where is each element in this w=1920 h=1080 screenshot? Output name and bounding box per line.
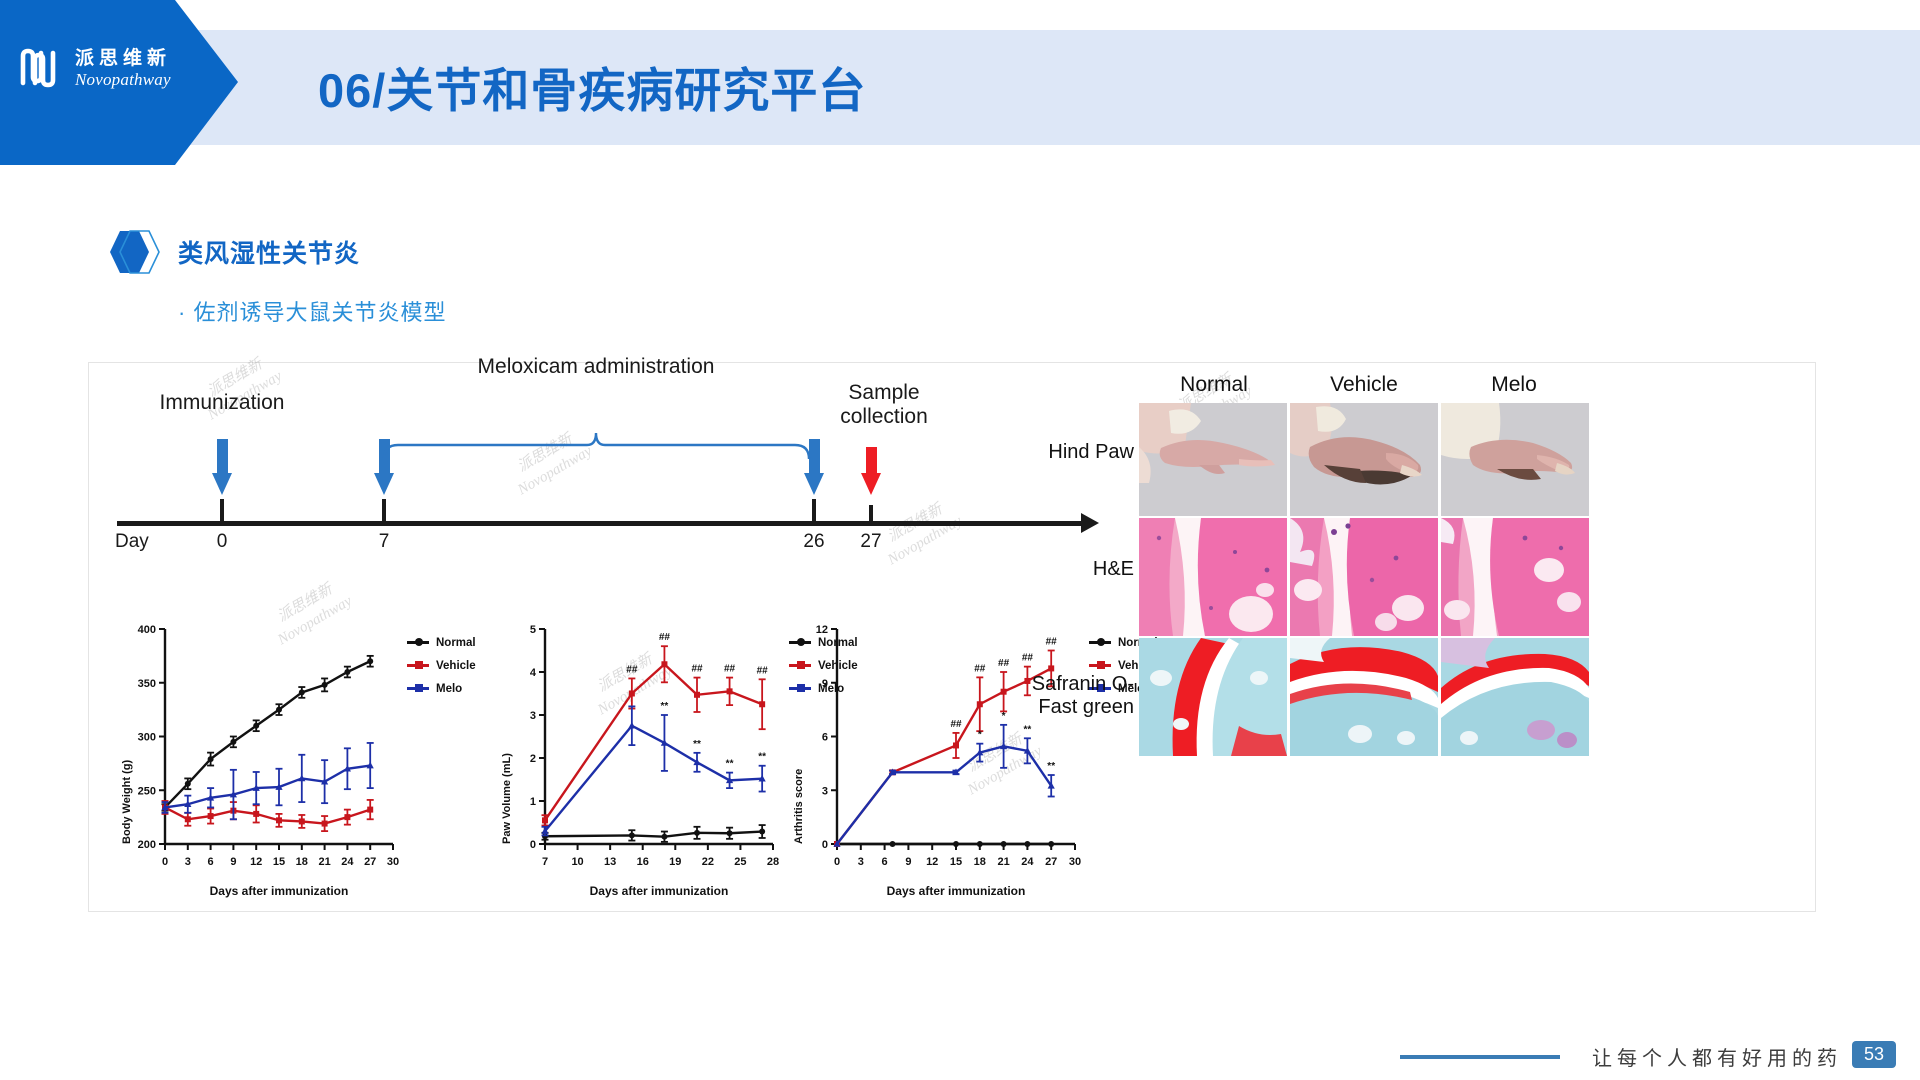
histology-image-hindpaw-normal	[1139, 403, 1287, 516]
histology-column-header-vehicle: Vehicle	[1330, 373, 1398, 397]
svg-text:10: 10	[571, 856, 583, 868]
legend-item: Melo	[407, 677, 476, 700]
timeline-tick	[220, 499, 224, 524]
legend-marker-icon	[407, 664, 429, 667]
svg-text:**: **	[661, 701, 669, 712]
legend-label: Melo	[436, 683, 462, 695]
histology-row-label-safranin: Safranin O-Fast green	[991, 673, 1134, 719]
figure-panel: 派思维新Novopathway 派思维新Novopathway 派思维新Novo…	[88, 362, 1816, 912]
histology-grid: Normal Vehicle Melo Hind Paw H&E Safrani…	[1039, 363, 1809, 911]
histology-image-safranin-vehicle	[1290, 638, 1438, 756]
histology-image-he-normal	[1139, 518, 1287, 636]
timeline-tick	[869, 505, 873, 523]
svg-text:##: ##	[724, 664, 736, 675]
svg-text:21: 21	[318, 856, 330, 868]
svg-text:27: 27	[364, 856, 376, 868]
legend-marker-icon	[407, 641, 429, 644]
timeline-tick-label: 26	[803, 531, 824, 553]
svg-text:0: 0	[822, 839, 828, 851]
legend-label: Vehicle	[436, 660, 476, 672]
histology-column-header-normal: Normal	[1180, 373, 1248, 397]
histology-image-safranin-normal	[1139, 638, 1287, 756]
histology-image-hindpaw-melo	[1441, 403, 1589, 516]
svg-text:0: 0	[162, 856, 168, 868]
timeline-tick-label: 7	[379, 531, 390, 553]
chart-x-axis-label: Days after immunization	[545, 884, 773, 898]
chart-paw-volume: 012345710131619222528##########********P…	[487, 603, 787, 908]
hexagon-icon	[106, 228, 162, 276]
svg-text:21: 21	[997, 856, 1009, 868]
timeline-day-label: Day	[115, 531, 149, 553]
histology-image-he-vehicle	[1290, 518, 1438, 636]
svg-text:25: 25	[734, 856, 746, 868]
study-timeline: Day 0 7 26 27 Immunization Meloxicam adm…	[99, 363, 1129, 593]
histology-row-label-he: H&E	[1039, 558, 1134, 581]
histology-image-he-melo	[1441, 518, 1589, 636]
svg-text:6: 6	[208, 856, 214, 868]
sample-collection-arrow-icon	[861, 447, 881, 497]
svg-text:24: 24	[341, 856, 354, 868]
svg-text:22: 22	[702, 856, 714, 868]
svg-text:7: 7	[542, 856, 548, 868]
svg-text:4: 4	[530, 667, 537, 679]
novopathway-n-monogram-icon	[14, 44, 62, 92]
svg-text:24: 24	[1021, 856, 1034, 868]
chart-body-weight: 200250300350400036912151821242730Body We…	[107, 603, 407, 908]
histology-image-safranin-melo	[1441, 638, 1589, 756]
timeline-tick-label: 0	[217, 531, 228, 553]
svg-text:15: 15	[273, 856, 285, 868]
svg-text:3: 3	[185, 856, 191, 868]
svg-text:16: 16	[637, 856, 649, 868]
histology-image-hindpaw-vehicle	[1290, 403, 1438, 516]
svg-text:9: 9	[230, 856, 236, 868]
chart-canvas: 200250300350400036912151821242730	[107, 603, 407, 908]
svg-text:**: **	[758, 752, 766, 763]
chart-y-axis-label: Arthritis score	[793, 769, 805, 844]
svg-text:**: **	[1024, 724, 1032, 735]
legend-item: Vehicle	[407, 654, 476, 677]
section-subtitle: · 佐剂诱导大鼠关节炎模型	[178, 295, 446, 327]
svg-text:##: ##	[950, 719, 962, 730]
svg-text:9: 9	[822, 678, 828, 690]
sample-collection-label: Samplecollection	[840, 381, 928, 429]
svg-text:**: **	[693, 739, 701, 750]
section-title: 类风湿性关节炎	[178, 234, 360, 270]
page-footer: 让每个人都有好用的药 53	[0, 1010, 1920, 1080]
svg-text:400: 400	[138, 624, 156, 636]
svg-text:*: *	[978, 730, 982, 741]
svg-text:18: 18	[974, 856, 986, 868]
svg-text:6: 6	[822, 732, 828, 744]
svg-text:15: 15	[950, 856, 962, 868]
page-number-badge: 53	[1852, 1041, 1896, 1068]
svg-text:12: 12	[926, 856, 938, 868]
chart-x-axis-label: Days after immunization	[165, 884, 393, 898]
svg-text:200: 200	[138, 839, 156, 851]
svg-text:##: ##	[626, 664, 638, 675]
svg-text:6: 6	[882, 856, 888, 868]
svg-text:19: 19	[669, 856, 681, 868]
legend-item: Normal	[407, 631, 476, 654]
timeline-tick	[382, 499, 386, 524]
legend-marker-icon	[407, 687, 429, 690]
footer-slogan: 让每个人都有好用的药	[1592, 1042, 1842, 1071]
svg-text:250: 250	[138, 785, 156, 797]
histology-column-header-melo: Melo	[1491, 373, 1537, 397]
svg-text:##: ##	[974, 663, 986, 674]
svg-text:0: 0	[530, 839, 536, 851]
legend-label: Normal	[436, 637, 476, 649]
chart-legend-body-weight: NormalVehicleMelo	[407, 631, 476, 700]
svg-text:12: 12	[250, 856, 262, 868]
section-heading-group: 类风湿性关节炎	[106, 228, 360, 276]
svg-text:**: **	[726, 759, 734, 770]
svg-text:##: ##	[1022, 653, 1034, 664]
svg-text:##: ##	[691, 664, 703, 675]
histology-row-label-hind-paw: Hind Paw	[1039, 441, 1134, 464]
timeline-axis	[117, 521, 1082, 526]
page-title: 06/关节和骨疾病研究平台	[318, 52, 866, 121]
svg-text:3: 3	[858, 856, 864, 868]
footer-divider	[1400, 1055, 1560, 1059]
svg-text:28: 28	[767, 856, 779, 868]
svg-text:9: 9	[905, 856, 911, 868]
svg-text:5: 5	[530, 624, 536, 636]
svg-text:##: ##	[659, 632, 671, 643]
chart-canvas: 012345710131619222528##########********	[487, 603, 787, 908]
svg-text:12: 12	[816, 624, 828, 636]
logo-english-name: Novopathway	[75, 71, 171, 88]
svg-text:##: ##	[757, 665, 769, 676]
page-header: 派思维新 Novopathway 06/关节和骨疾病研究平台	[0, 0, 1920, 175]
svg-text:##: ##	[998, 658, 1010, 669]
svg-text:2: 2	[530, 753, 536, 765]
chart-y-axis-label: Paw Volume (mL)	[501, 753, 513, 844]
dosing-period-bracket	[382, 421, 812, 461]
svg-text:350: 350	[138, 678, 156, 690]
svg-text:13: 13	[604, 856, 616, 868]
brand-logo: 派思维新 Novopathway	[14, 44, 171, 92]
immunization-arrow-icon	[212, 439, 232, 497]
svg-text:300: 300	[138, 732, 156, 744]
svg-text:0: 0	[834, 856, 840, 868]
immunization-label: Immunization	[160, 391, 285, 415]
timeline-tick-label: 27	[860, 531, 881, 553]
svg-text:18: 18	[296, 856, 308, 868]
svg-text:3: 3	[530, 710, 536, 722]
svg-text:1: 1	[530, 796, 536, 808]
svg-text:3: 3	[822, 785, 828, 797]
svg-text:30: 30	[387, 856, 399, 868]
logo-chinese-name: 派思维新	[75, 49, 171, 68]
chart-y-axis-label: Body Weight (g)	[121, 760, 133, 844]
timeline-tick	[812, 499, 816, 524]
meloxicam-label: Meloxicam administration	[478, 355, 715, 379]
